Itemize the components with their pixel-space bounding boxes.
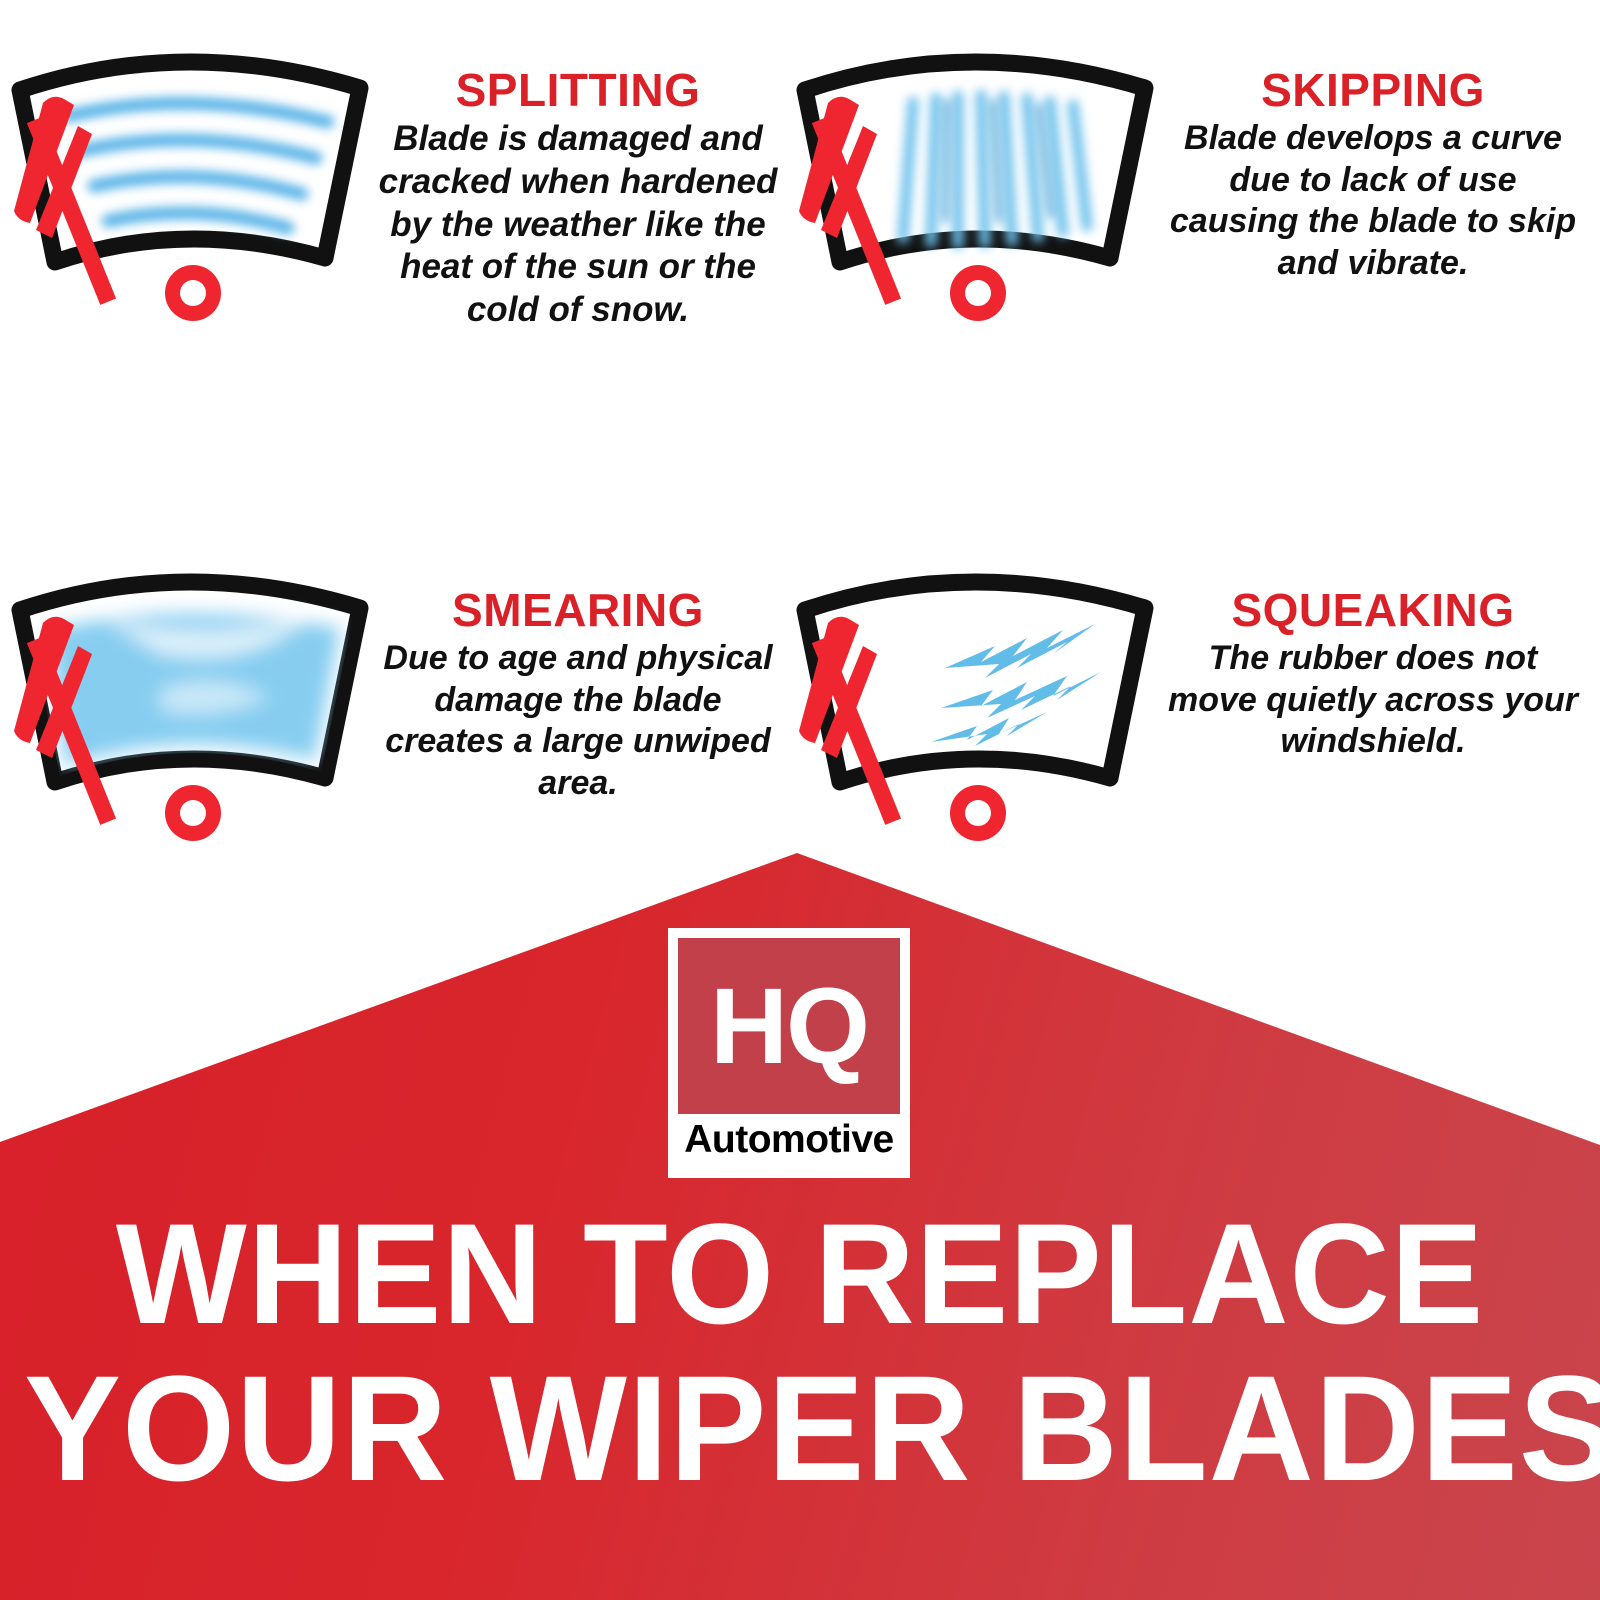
symptom-panel-skipping: SKIPPING Blade develops a curve due to l… bbox=[795, 30, 1585, 350]
symptom-text-squeaking: SQUEAKING The rubber does not move quiet… bbox=[1155, 550, 1585, 763]
panel-title: SMEARING bbox=[376, 586, 780, 634]
wiper-windshield-arcs-icon bbox=[10, 30, 370, 350]
wiper-windshield-zigzag-icon bbox=[795, 550, 1155, 870]
headline: WHEN TO REPLACE YOUR WIPER BLADES bbox=[0, 1205, 1600, 1502]
panel-description: Blade is damaged and cracked when harden… bbox=[376, 118, 780, 331]
symptom-panel-splitting: SPLITTING Blade is damaged and cracked w… bbox=[10, 30, 780, 350]
symptom-panel-squeaking: SQUEAKING The rubber does not move quiet… bbox=[795, 550, 1585, 870]
panel-description: Blade develops a curve due to lack of us… bbox=[1161, 118, 1585, 284]
wiper-windshield-streaks-icon bbox=[795, 30, 1155, 350]
logo-mark-text: HQ bbox=[710, 972, 868, 1080]
hq-automotive-logo: HQ Automotive bbox=[668, 928, 910, 1178]
symptom-panel-grid: SPLITTING Blade is damaged and cracked w… bbox=[0, 0, 1600, 840]
symptom-text-smearing: SMEARING Due to age and physical damage … bbox=[370, 550, 780, 804]
logo-mark-box: HQ bbox=[678, 938, 900, 1114]
panel-title: SKIPPING bbox=[1161, 66, 1585, 114]
panel-title: SPLITTING bbox=[376, 66, 780, 114]
panel-title: SQUEAKING bbox=[1161, 586, 1585, 634]
symptom-text-splitting: SPLITTING Blade is damaged and cracked w… bbox=[370, 30, 780, 332]
headline-line-2: YOUR WIPER BLADES bbox=[24, 1355, 1576, 1502]
panel-description: Due to age and physical damage the blade… bbox=[376, 638, 780, 804]
symptom-text-skipping: SKIPPING Blade develops a curve due to l… bbox=[1155, 30, 1585, 284]
wiper-windshield-smear-icon bbox=[10, 550, 370, 870]
headline-line-1: WHEN TO REPLACE bbox=[24, 1205, 1576, 1345]
panel-description: The rubber does not move quietly across … bbox=[1161, 638, 1585, 762]
symptom-panel-smearing: SMEARING Due to age and physical damage … bbox=[10, 550, 780, 870]
logo-subtitle: Automotive bbox=[678, 1120, 900, 1161]
